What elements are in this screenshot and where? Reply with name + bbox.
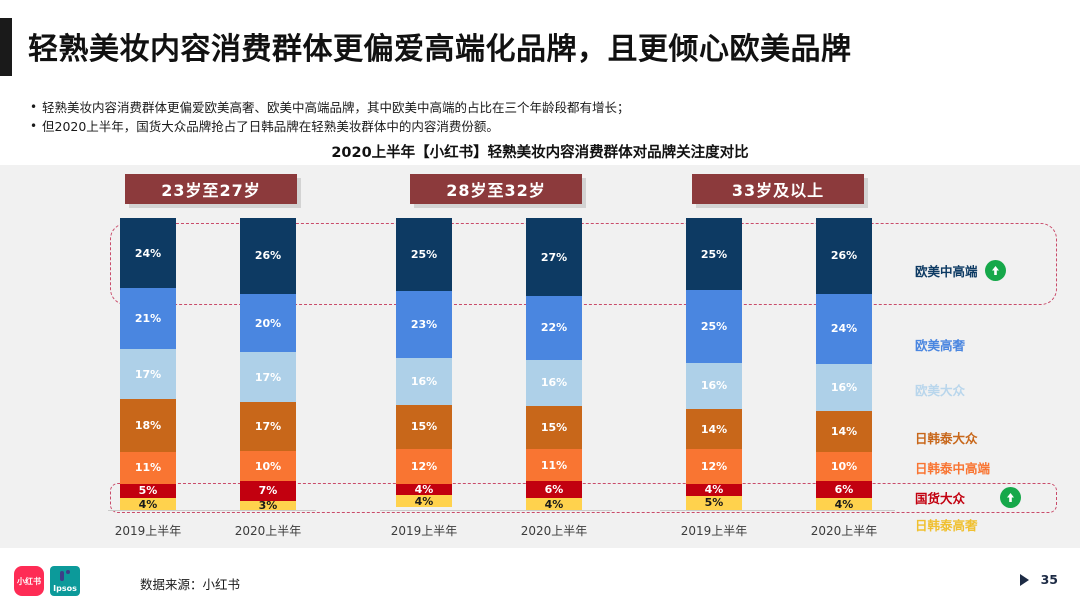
bar-segment: 15% xyxy=(526,406,582,449)
x-axis-label: 2020上半年 xyxy=(208,522,328,539)
list-item: • 轻熟美妆内容消费群体更偏爱欧美高奢、欧美中高端品牌，其中欧美中高端的占比在三… xyxy=(30,98,1050,117)
list-item: • 但2020上半年，国货大众品牌抢占了日韩品牌在轻熟美妆群体中的内容消费份额。 xyxy=(30,117,1050,136)
bar-segment: 14% xyxy=(816,411,872,452)
x-axis-label: 2019上半年 xyxy=(364,522,484,539)
bar-segment: 10% xyxy=(816,452,872,481)
bar-segment: 27% xyxy=(526,218,582,296)
ipsos-mark-icon xyxy=(50,570,80,582)
bar-segment: 26% xyxy=(816,218,872,294)
bar-column: 27% 22% 16% 15% 11% 6% 4% xyxy=(526,218,582,510)
legend-item-guohuo-dazhong[interactable]: 国货大众 xyxy=(915,487,1021,508)
legend-item-oumei-dazhong[interactable]: 欧美大众 xyxy=(915,380,965,399)
bar-segment: 12% xyxy=(686,449,742,484)
x-axis-label: 2019上半年 xyxy=(88,522,208,539)
bar-segment: 14% xyxy=(686,409,742,450)
legend-item-oumei-zhonggaoduan[interactable]: 欧美中高端 xyxy=(915,260,1006,281)
bar-segment: 4% xyxy=(396,484,452,496)
group-banner-1: 23岁至27岁 xyxy=(125,174,297,204)
bar-segment: 25% xyxy=(396,218,452,291)
bar-segment: 4% xyxy=(816,498,872,510)
bar-segment: 4% xyxy=(686,484,742,496)
xiaohongshu-logo: 小红书 xyxy=(14,566,44,596)
title-accent-bar xyxy=(0,18,12,76)
legend-label: 欧美高奢 xyxy=(915,335,965,354)
bar-segment: 11% xyxy=(120,452,176,484)
slide: 轻熟美妆内容消费群体更偏爱高端化品牌，且更倾心欧美品牌 • 轻熟美妆内容消费群体… xyxy=(0,0,1080,608)
bar-segment: 17% xyxy=(120,349,176,399)
legend-label: 日韩泰高奢 xyxy=(915,515,978,534)
bar-column: 25% 23% 16% 15% 12% 4% 4% xyxy=(396,218,452,510)
ipsos-logo: Ipsos xyxy=(50,566,80,596)
trend-up-icon xyxy=(985,260,1006,281)
bar-segment: 16% xyxy=(526,360,582,406)
bar-segment: 26% xyxy=(240,218,296,294)
bar-column: 26% 24% 16% 14% 10% 6% 4% xyxy=(816,218,872,510)
legend-item-rihantai-zhonggaoduan[interactable]: 日韩泰中高端 xyxy=(915,458,990,477)
bar-segment: 5% xyxy=(120,484,176,499)
group-banner-2: 28岁至32岁 xyxy=(410,174,582,204)
footer: 小红书 Ipsos 数据来源：小红书 35 xyxy=(0,552,1080,608)
baseline-group-3 xyxy=(660,510,895,511)
bar-segment: 6% xyxy=(816,481,872,499)
bar-column: 26% 20% 17% 17% 10% 7% 3% xyxy=(240,218,296,510)
pager[interactable]: 35 xyxy=(1020,572,1058,587)
bar-column: 24% 21% 17% 18% 11% 5% 4% xyxy=(120,218,176,510)
bullet-text: 但2020上半年，国货大众品牌抢占了日韩品牌在轻熟美妆群体中的内容消费份额。 xyxy=(42,117,1050,136)
bar-segment: 25% xyxy=(686,290,742,362)
legend-item-rihantai-dazhong[interactable]: 日韩泰大众 xyxy=(915,428,978,447)
trend-up-icon xyxy=(1000,487,1021,508)
bar-segment: 7% xyxy=(240,481,296,501)
baseline-group-2 xyxy=(380,510,612,511)
bar-segment: 16% xyxy=(816,364,872,411)
group-banner-3: 33岁及以上 xyxy=(692,174,864,204)
legend-item-rihantai-gaoshe[interactable]: 日韩泰高奢 xyxy=(915,515,978,534)
bar-segment: 6% xyxy=(526,481,582,498)
bar-segment: 18% xyxy=(120,399,176,452)
bar-segment: 22% xyxy=(526,296,582,360)
bullet-text: 轻熟美妆内容消费群体更偏爱欧美高奢、欧美中高端品牌，其中欧美中高端的占比在三个年… xyxy=(42,98,1050,117)
bar-segment: 11% xyxy=(526,449,582,481)
bar-segment: 25% xyxy=(686,218,742,290)
chart-panel: 23岁至27岁 28岁至32岁 33岁及以上 24% 21% 17% 18% 1… xyxy=(0,165,1080,548)
legend-label: 欧美大众 xyxy=(915,380,965,399)
x-axis-label: 2019上半年 xyxy=(654,522,774,539)
bullet-list: • 轻熟美妆内容消费群体更偏爱欧美高奢、欧美中高端品牌，其中欧美中高端的占比在三… xyxy=(30,98,1050,136)
legend-label: 欧美中高端 xyxy=(915,261,978,280)
data-source-text: 数据来源：小红书 xyxy=(140,574,240,593)
legend-item-oumei-gaoshe[interactable]: 欧美高奢 xyxy=(915,335,965,354)
bar-segment: 10% xyxy=(240,451,296,480)
legend-label: 日韩泰大众 xyxy=(915,428,978,447)
bar-segment: 12% xyxy=(396,449,452,484)
bullet-marker-icon: • xyxy=(30,98,42,117)
bar-segment: 16% xyxy=(686,363,742,409)
bar-segment: 4% xyxy=(120,498,176,510)
bullet-marker-icon: • xyxy=(30,117,42,136)
x-axis-label: 2020上半年 xyxy=(784,522,904,539)
bar-segment: 3% xyxy=(240,501,296,510)
bar-segment: 24% xyxy=(816,294,872,364)
bar-segment: 4% xyxy=(396,495,452,507)
x-axis-label: 2020上半年 xyxy=(494,522,614,539)
bar-column: 25% 25% 16% 14% 12% 4% 5% xyxy=(686,218,742,510)
bar-segment: 23% xyxy=(396,291,452,358)
bar-segment: 16% xyxy=(396,358,452,405)
chart-title: 2020上半年【小红书】轻熟美妆内容消费群体对品牌关注度对比 xyxy=(0,141,1080,162)
legend-label: 日韩泰中高端 xyxy=(915,458,990,477)
page-number: 35 xyxy=(1041,572,1058,587)
play-triangle-icon[interactable] xyxy=(1020,574,1029,586)
ipsos-logo-text: Ipsos xyxy=(53,584,77,593)
bar-segment: 21% xyxy=(120,288,176,349)
legend-label: 国货大众 xyxy=(915,488,965,507)
bar-segment: 15% xyxy=(396,405,452,449)
bar-segment: 24% xyxy=(120,218,176,288)
bar-segment: 5% xyxy=(686,496,742,510)
bar-segment: 17% xyxy=(240,352,296,402)
bar-segment: 4% xyxy=(526,498,582,510)
page-title: 轻熟美妆内容消费群体更偏爱高端化品牌，且更倾心欧美品牌 xyxy=(28,24,1028,68)
bar-segment: 17% xyxy=(240,402,296,452)
bar-segment: 20% xyxy=(240,294,296,352)
